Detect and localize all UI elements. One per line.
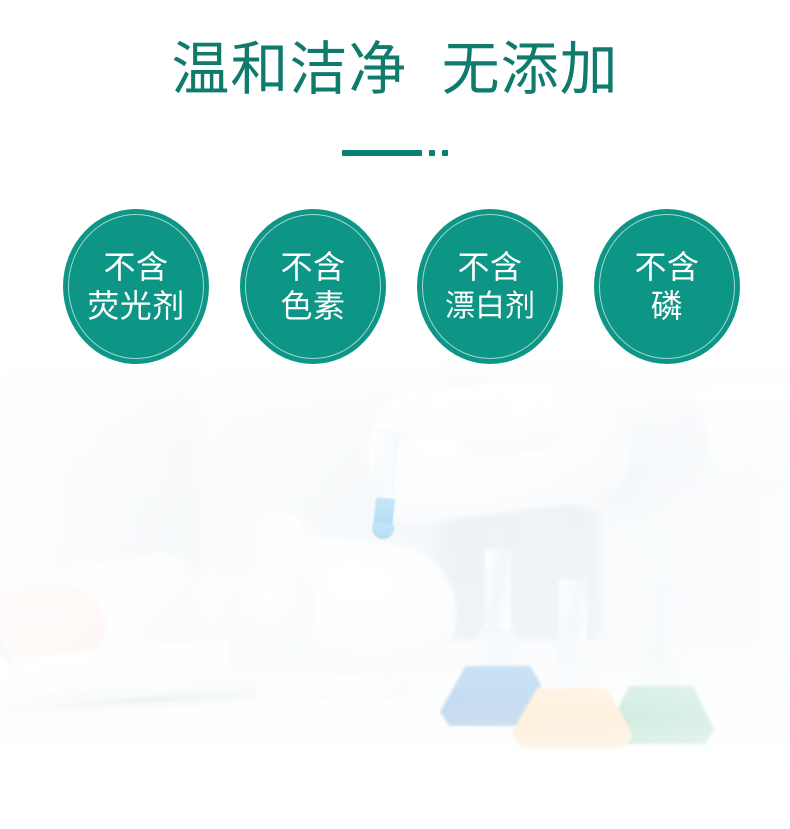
badge-no-bleach[interactable]: 不含 漂白剂 bbox=[417, 209, 563, 364]
divider-dot bbox=[429, 150, 435, 156]
badge-line-1: 不含 bbox=[103, 248, 168, 287]
feature-badge-row: 不含 荧光剂 不含 色素 不含 漂白剂 不含 磷 bbox=[0, 209, 790, 365]
divider-dot bbox=[442, 150, 448, 156]
title-divider bbox=[0, 150, 790, 156]
badge-line-2: 色素 bbox=[280, 287, 345, 326]
badge-line-1: 不含 bbox=[634, 248, 699, 287]
page-title: 温和洁净 无添加 bbox=[0, 36, 790, 104]
badge-line-1: 不含 bbox=[457, 248, 522, 287]
badge-line-2: 漂白剂 bbox=[445, 287, 535, 326]
badge-line-2: 荧光剂 bbox=[87, 287, 185, 326]
badge-line-1: 不含 bbox=[280, 248, 345, 287]
badge-no-colorant[interactable]: 不含 色素 bbox=[240, 209, 386, 364]
product-feature-banner: 温和洁净 无添加 不含 荧光剂 不含 色素 不含 漂白剂 不含 磷 bbox=[0, 0, 790, 829]
divider-bar bbox=[342, 150, 422, 156]
badge-line-2: 磷 bbox=[651, 287, 684, 326]
badge-no-phosphorus[interactable]: 不含 磷 bbox=[594, 209, 740, 364]
badge-no-fluorescent-agent[interactable]: 不含 荧光剂 bbox=[63, 209, 209, 364]
banner-content: 温和洁净 无添加 不含 荧光剂 不含 色素 不含 漂白剂 不含 磷 bbox=[0, 0, 790, 829]
